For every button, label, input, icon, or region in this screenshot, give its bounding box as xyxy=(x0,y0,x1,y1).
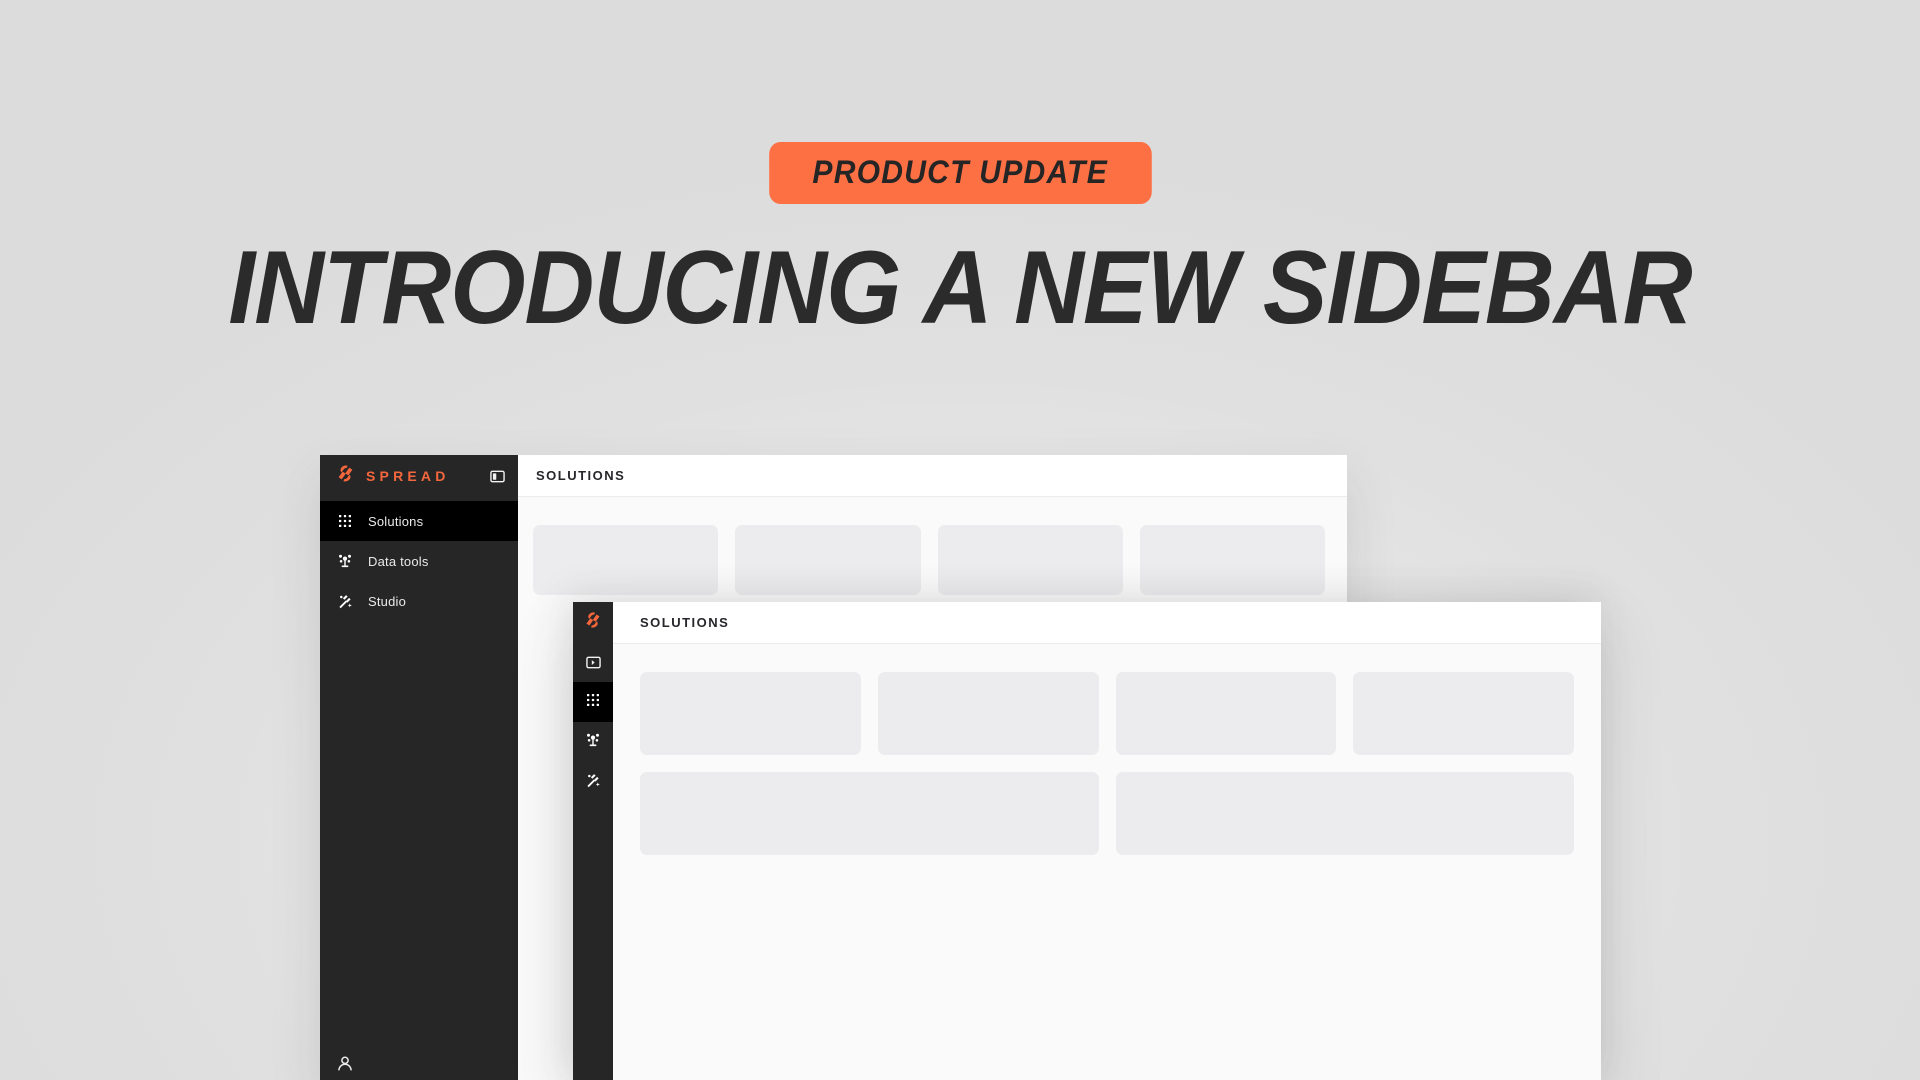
brand-wordmark: SPREAD xyxy=(366,468,450,484)
sidebar-nav: Solutions xyxy=(320,497,518,1046)
placeholder-card[interactable] xyxy=(878,672,1099,755)
rail-brand-logo[interactable] xyxy=(573,602,613,642)
expand-panel-icon[interactable] xyxy=(573,642,613,682)
collapsed-window-main: SOLUTIONS xyxy=(613,602,1601,1080)
content-header: SOLUTIONS xyxy=(518,455,1347,497)
data-tools-icon xyxy=(585,732,601,753)
hero-section: PRODUCT UPDATE INTRODUCING A NEW SIDEBAR xyxy=(0,0,1920,340)
product-update-badge: PRODUCT UPDATE xyxy=(769,142,1151,204)
collapsed-sidebar-window: SOLUTIONS xyxy=(573,602,1601,1080)
placeholder-card[interactable] xyxy=(938,525,1123,595)
page-background: PRODUCT UPDATE INTRODUCING A NEW SIDEBAR… xyxy=(0,0,1920,1080)
studio-icon xyxy=(337,593,353,609)
placeholder-card[interactable] xyxy=(533,525,718,595)
user-avatar-icon xyxy=(337,1055,353,1071)
brand-logo[interactable]: SPREAD xyxy=(336,464,489,488)
placeholder-card[interactable] xyxy=(640,672,861,755)
collapsed-sidebar-rail xyxy=(573,602,613,1080)
sidebar-footer[interactable] xyxy=(320,1046,518,1080)
studio-icon xyxy=(585,772,601,793)
rail-item-studio[interactable] xyxy=(573,762,613,802)
content-title: SOLUTIONS xyxy=(640,615,729,630)
grid-dots-icon xyxy=(585,692,601,713)
grid-dots-icon xyxy=(337,513,353,529)
expanded-sidebar: SPREAD xyxy=(320,455,518,1080)
sidebar-item-studio[interactable]: Studio xyxy=(320,581,518,621)
spread-logo-mark-icon xyxy=(336,464,355,488)
sidebar-item-data-tools[interactable]: Data tools xyxy=(320,541,518,581)
data-tools-icon xyxy=(337,553,353,569)
card-grid xyxy=(518,497,1347,595)
content-header: SOLUTIONS xyxy=(613,602,1601,644)
placeholder-card[interactable] xyxy=(640,772,1099,855)
collapse-panel-icon[interactable] xyxy=(489,468,506,485)
content-body xyxy=(613,644,1601,1080)
placeholder-card[interactable] xyxy=(1116,672,1337,755)
sidebar-item-solutions[interactable]: Solutions xyxy=(320,501,518,541)
content-title: SOLUTIONS xyxy=(536,468,625,483)
spread-logo-mark-icon xyxy=(584,611,602,634)
page-title: INTRODUCING A NEW SIDEBAR xyxy=(67,238,1853,340)
card-grid-row-1 xyxy=(640,672,1574,755)
placeholder-card[interactable] xyxy=(1116,772,1575,855)
card-grid-row-2 xyxy=(640,772,1574,855)
sidebar-item-label: Studio xyxy=(368,594,406,609)
placeholder-card[interactable] xyxy=(735,525,920,595)
sidebar-item-label: Data tools xyxy=(368,554,429,569)
sidebar-item-label: Solutions xyxy=(368,514,423,529)
sidebar-header: SPREAD xyxy=(320,455,518,497)
rail-item-solutions[interactable] xyxy=(573,682,613,722)
rail-item-data-tools[interactable] xyxy=(573,722,613,762)
placeholder-card[interactable] xyxy=(1353,672,1574,755)
placeholder-card[interactable] xyxy=(1140,525,1325,595)
